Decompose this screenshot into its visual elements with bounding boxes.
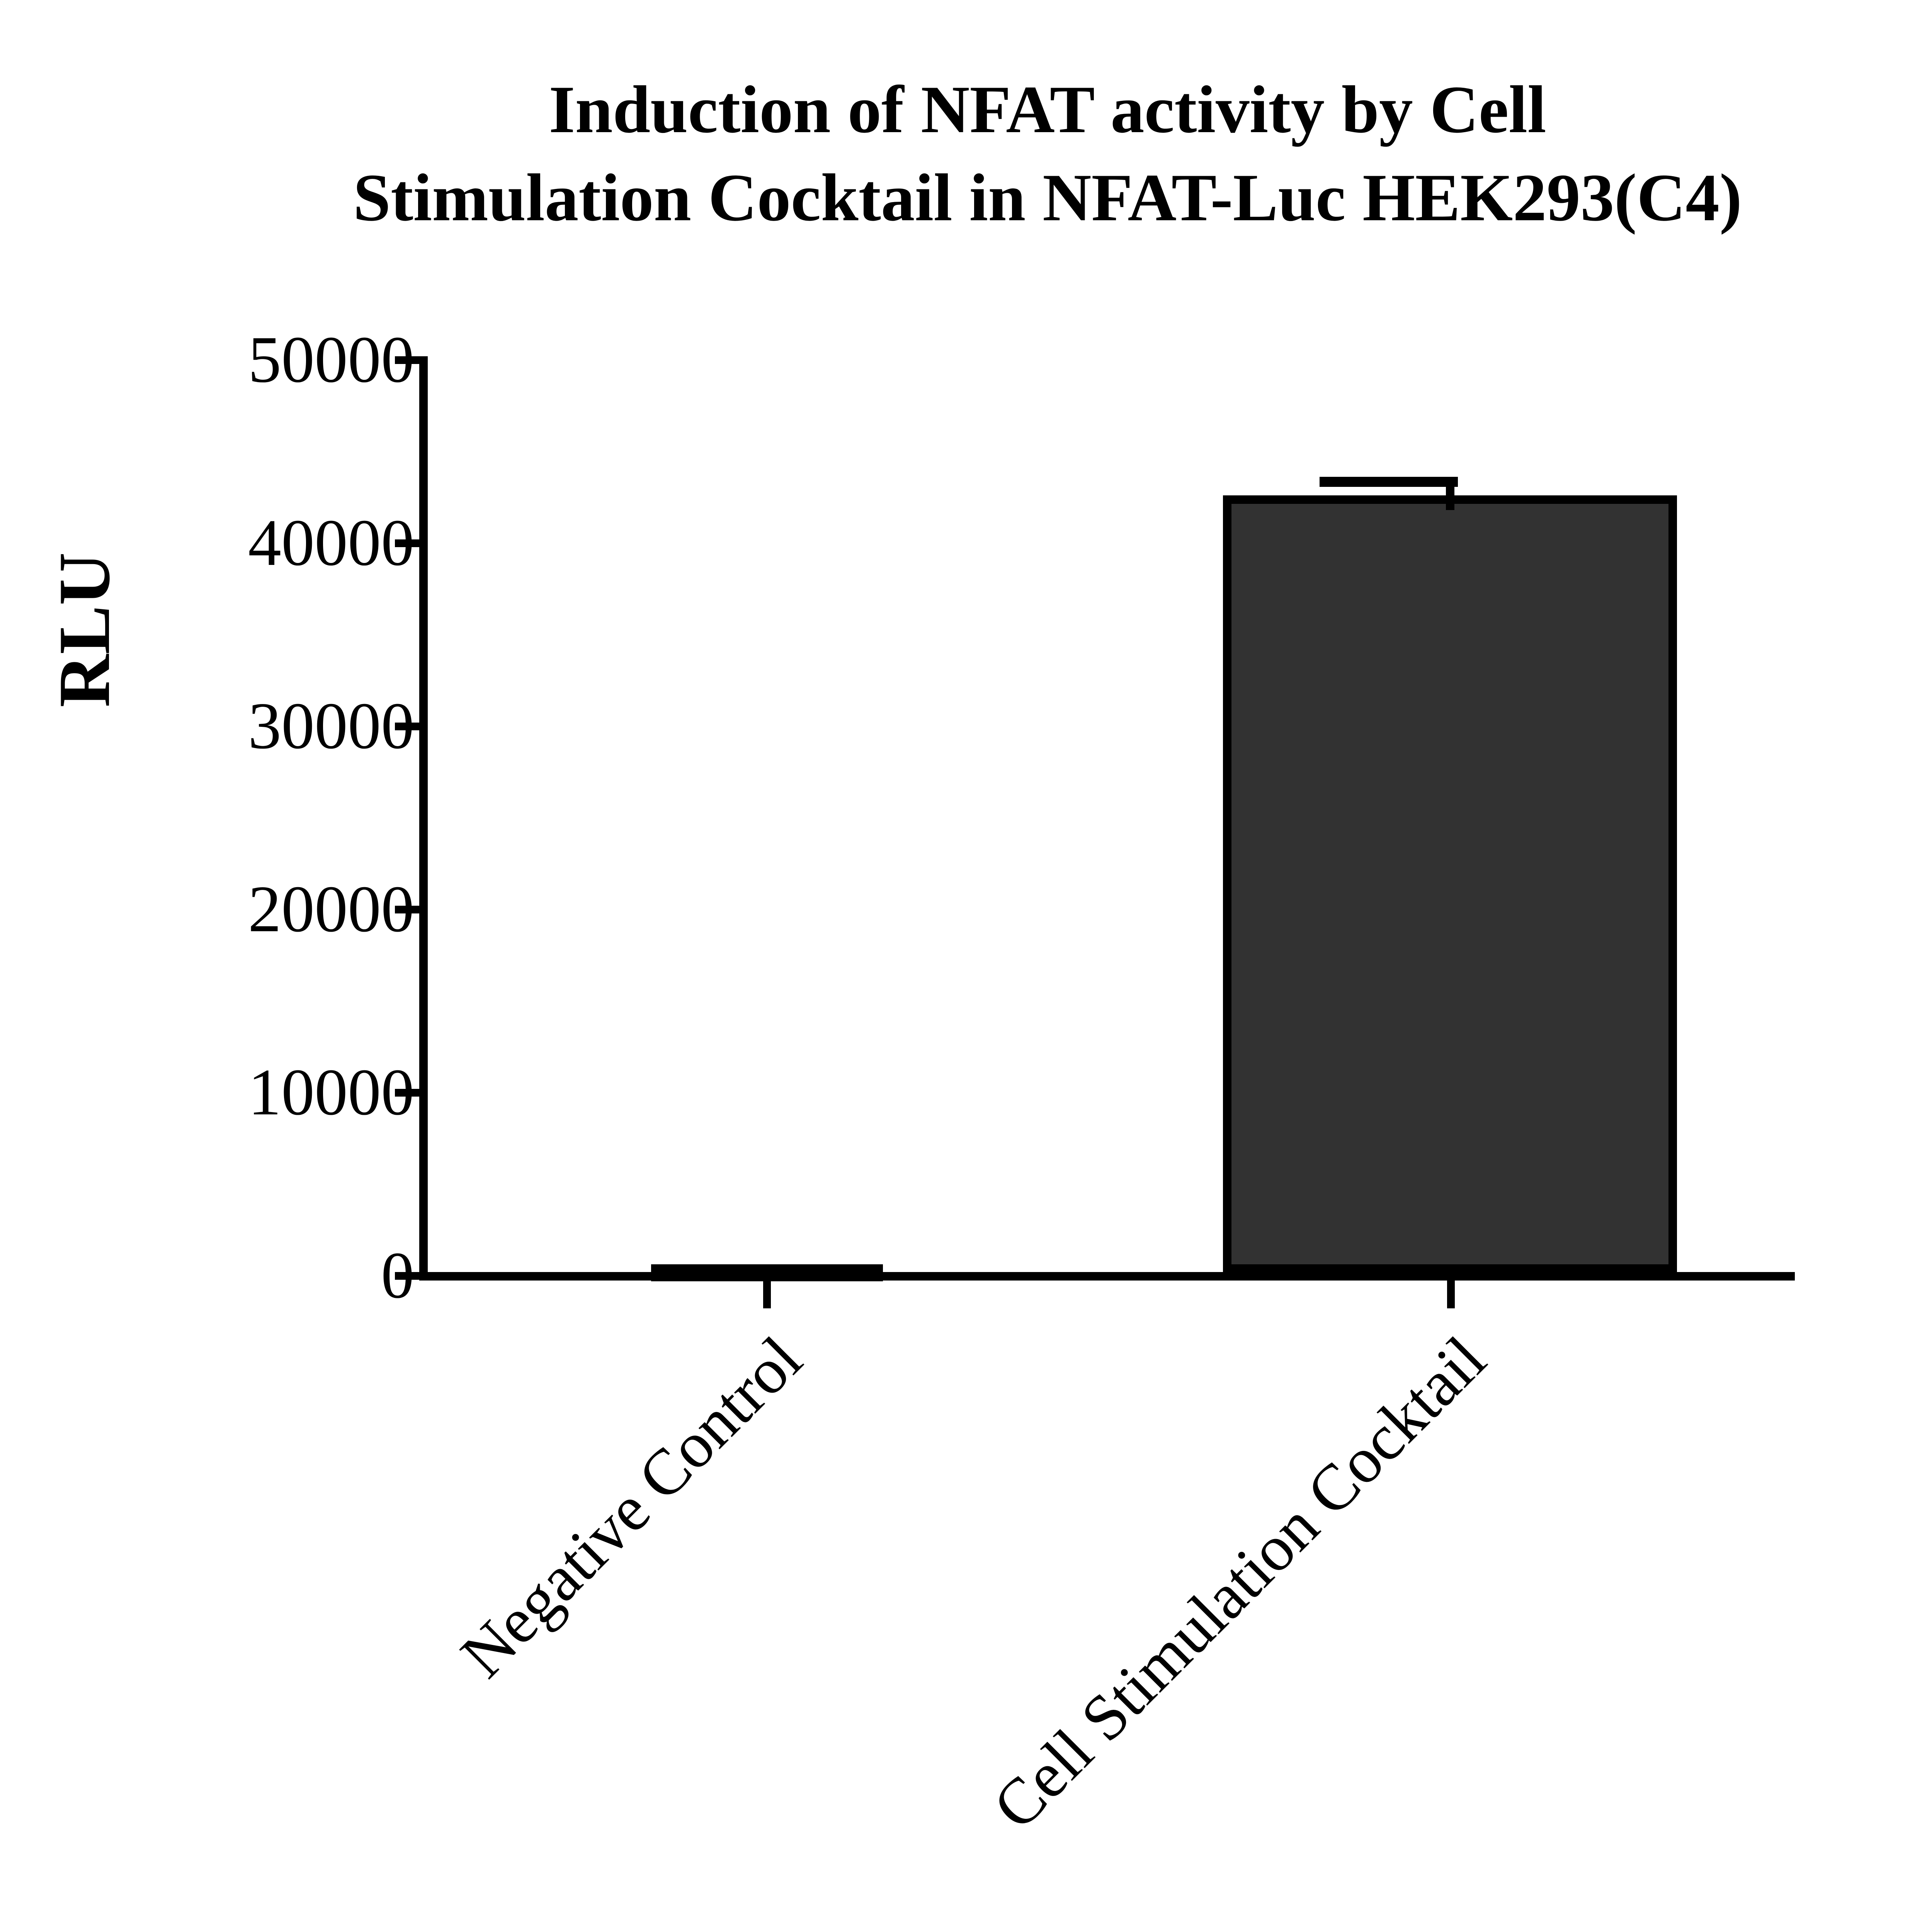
y-tick-label-0: 0 xyxy=(381,1242,414,1309)
x-tick-label-negative-control: Negative Control xyxy=(0,1325,813,1932)
y-tick-label-50000: 50000 xyxy=(248,327,414,393)
bar-cell-stimulation-cocktail[interactable] xyxy=(1223,495,1677,1273)
y-tick-label-20000: 20000 xyxy=(248,876,414,942)
y-tick-label-30000: 30000 xyxy=(248,693,414,759)
y-axis-spine xyxy=(419,356,428,1279)
x-axis-spine xyxy=(419,1272,1795,1281)
bar-negative-control[interactable] xyxy=(651,1264,883,1281)
figure-root: Induction of NFAT activity by Cell Stimu… xyxy=(0,0,1932,1932)
x-tick-mark-negative-control xyxy=(763,1281,771,1308)
y-tick-label-40000: 40000 xyxy=(248,510,414,576)
x-tick-mark-cell-stimulation-cocktail xyxy=(1447,1281,1455,1308)
plot-area: 50000 40000 30000 20000 10000 0 Negative… xyxy=(0,0,1932,1932)
error-bar-cap-cell-stimulation-cocktail xyxy=(1320,477,1458,487)
y-tick-label-10000: 10000 xyxy=(248,1059,414,1126)
